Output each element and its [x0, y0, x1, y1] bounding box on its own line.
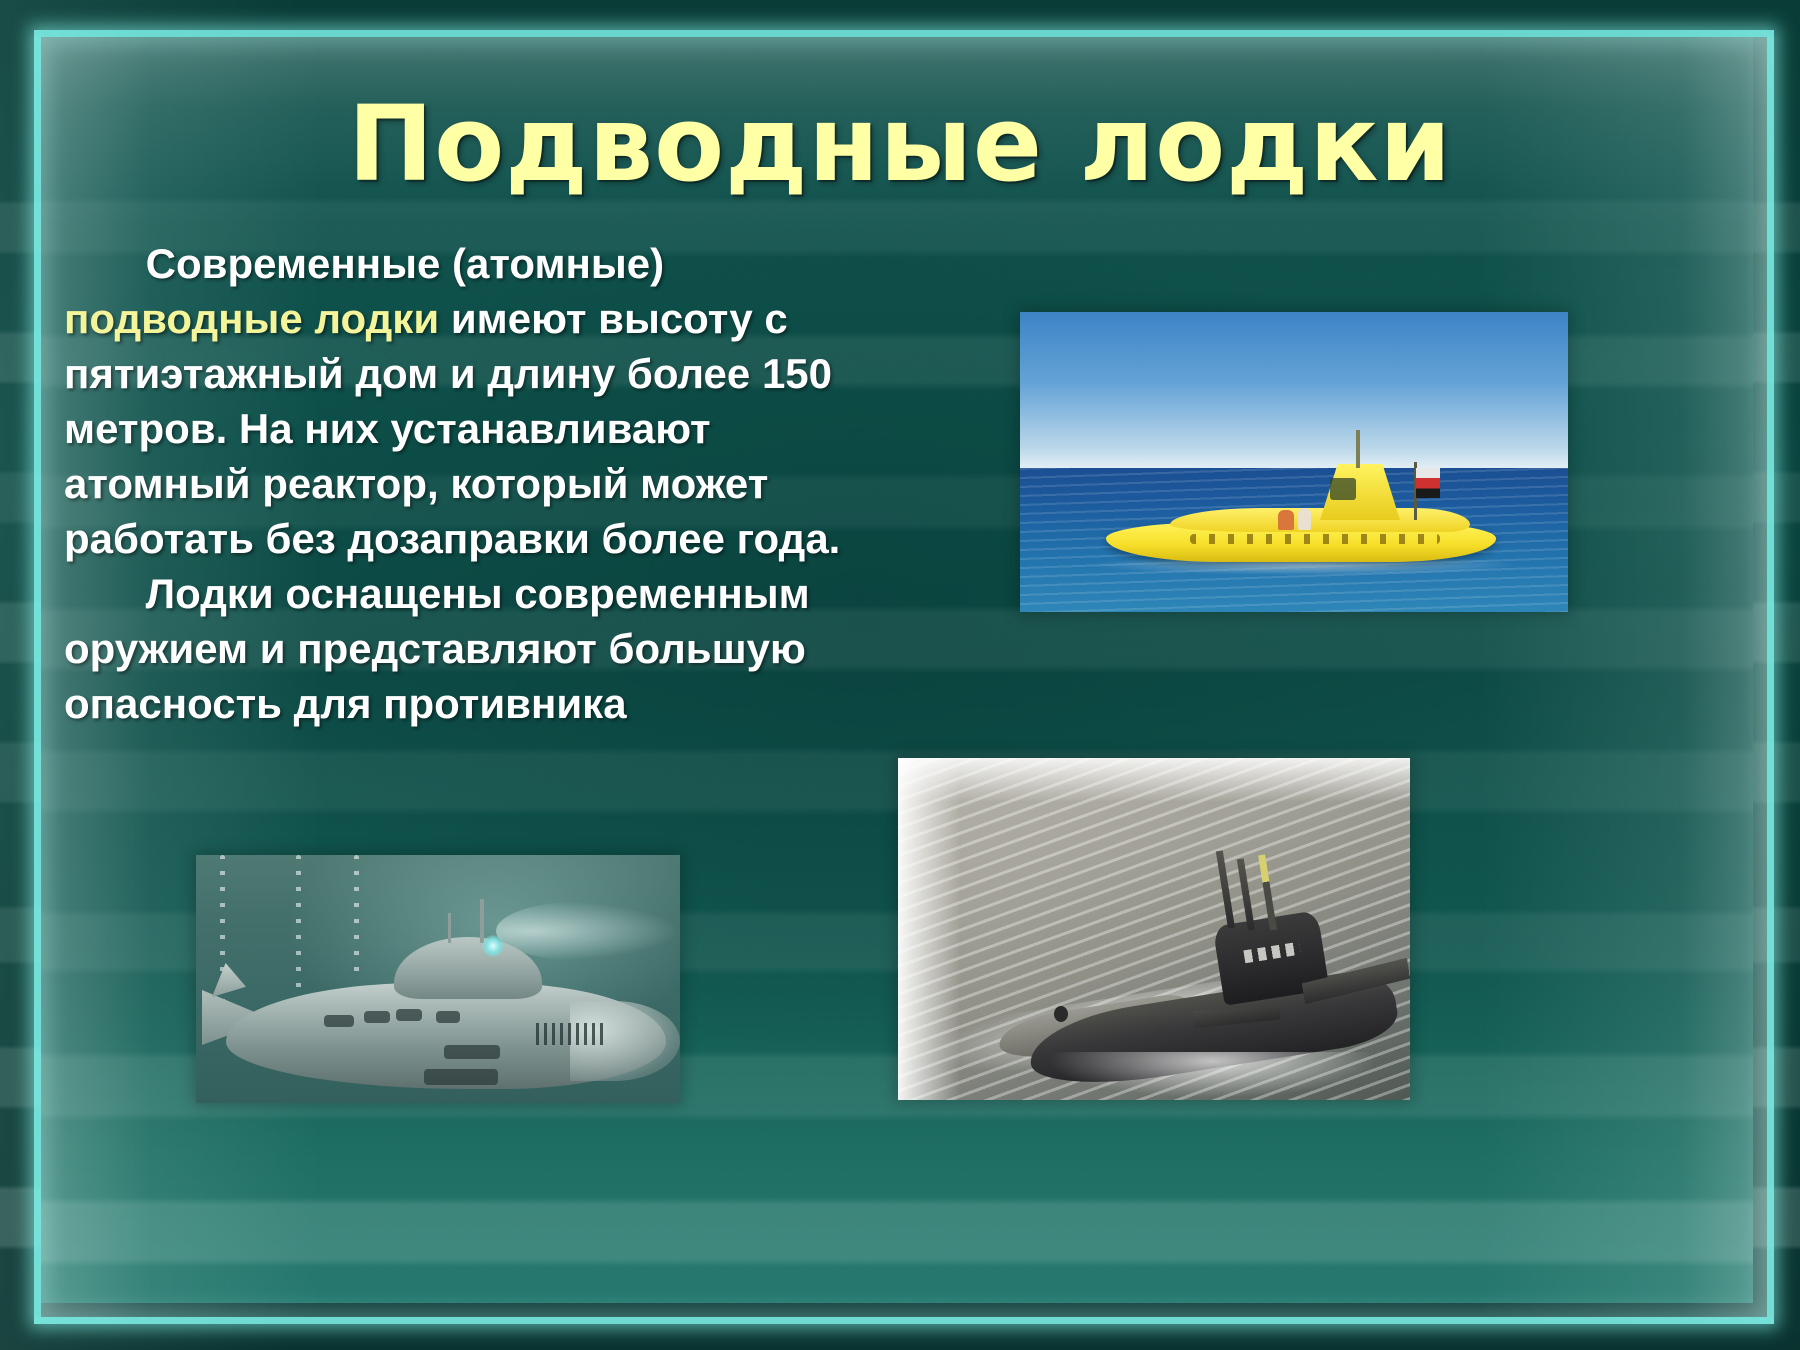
- yellow-tourist-submarine-photo: [1020, 312, 1568, 612]
- conning-tower-window: [1330, 478, 1356, 500]
- bubble-trail: [354, 855, 359, 979]
- hull-vents: [536, 1023, 608, 1045]
- mast: [480, 899, 484, 943]
- slide-title: Подводные лодки: [18, 90, 1782, 199]
- slide-body-text: Современные (атомные) подводные лодки им…: [64, 236, 876, 731]
- body-paragraph-1: Современные (атомные) подводные лодки им…: [64, 236, 876, 731]
- mast: [1356, 430, 1360, 468]
- hull-hatch: [364, 1011, 390, 1023]
- sky: [1020, 312, 1568, 468]
- hull-hatch: [396, 1009, 422, 1021]
- person-on-deck: [1298, 508, 1311, 530]
- submarine-portholes: [1190, 534, 1440, 544]
- body-highlight-phrase: подводные лодки: [64, 295, 439, 342]
- hull-hatch: [444, 1045, 500, 1059]
- submarine-deck: [1170, 508, 1470, 532]
- body-paragraph-2: Лодки оснащены современным оружием и пре…: [64, 570, 810, 727]
- flag-icon: [1416, 468, 1440, 498]
- body-paragraph-1-lead: Современные (атомные): [64, 240, 664, 287]
- hull-hatch: [436, 1011, 460, 1023]
- sea-debris: [1054, 1006, 1068, 1022]
- bubble-trail: [296, 855, 301, 994]
- presentation-slide: Подводные лодки Современные (атомные) по…: [0, 0, 1800, 1350]
- submerged-submarine-render: [196, 855, 680, 1103]
- light-glow-icon: [482, 935, 504, 957]
- hull-hatch: [324, 1015, 354, 1027]
- military-submarine-photo: [898, 758, 1410, 1100]
- person-on-deck: [1278, 510, 1294, 530]
- hull-hatch: [424, 1069, 498, 1085]
- foam: [1048, 1052, 1378, 1098]
- periscope: [448, 913, 451, 943]
